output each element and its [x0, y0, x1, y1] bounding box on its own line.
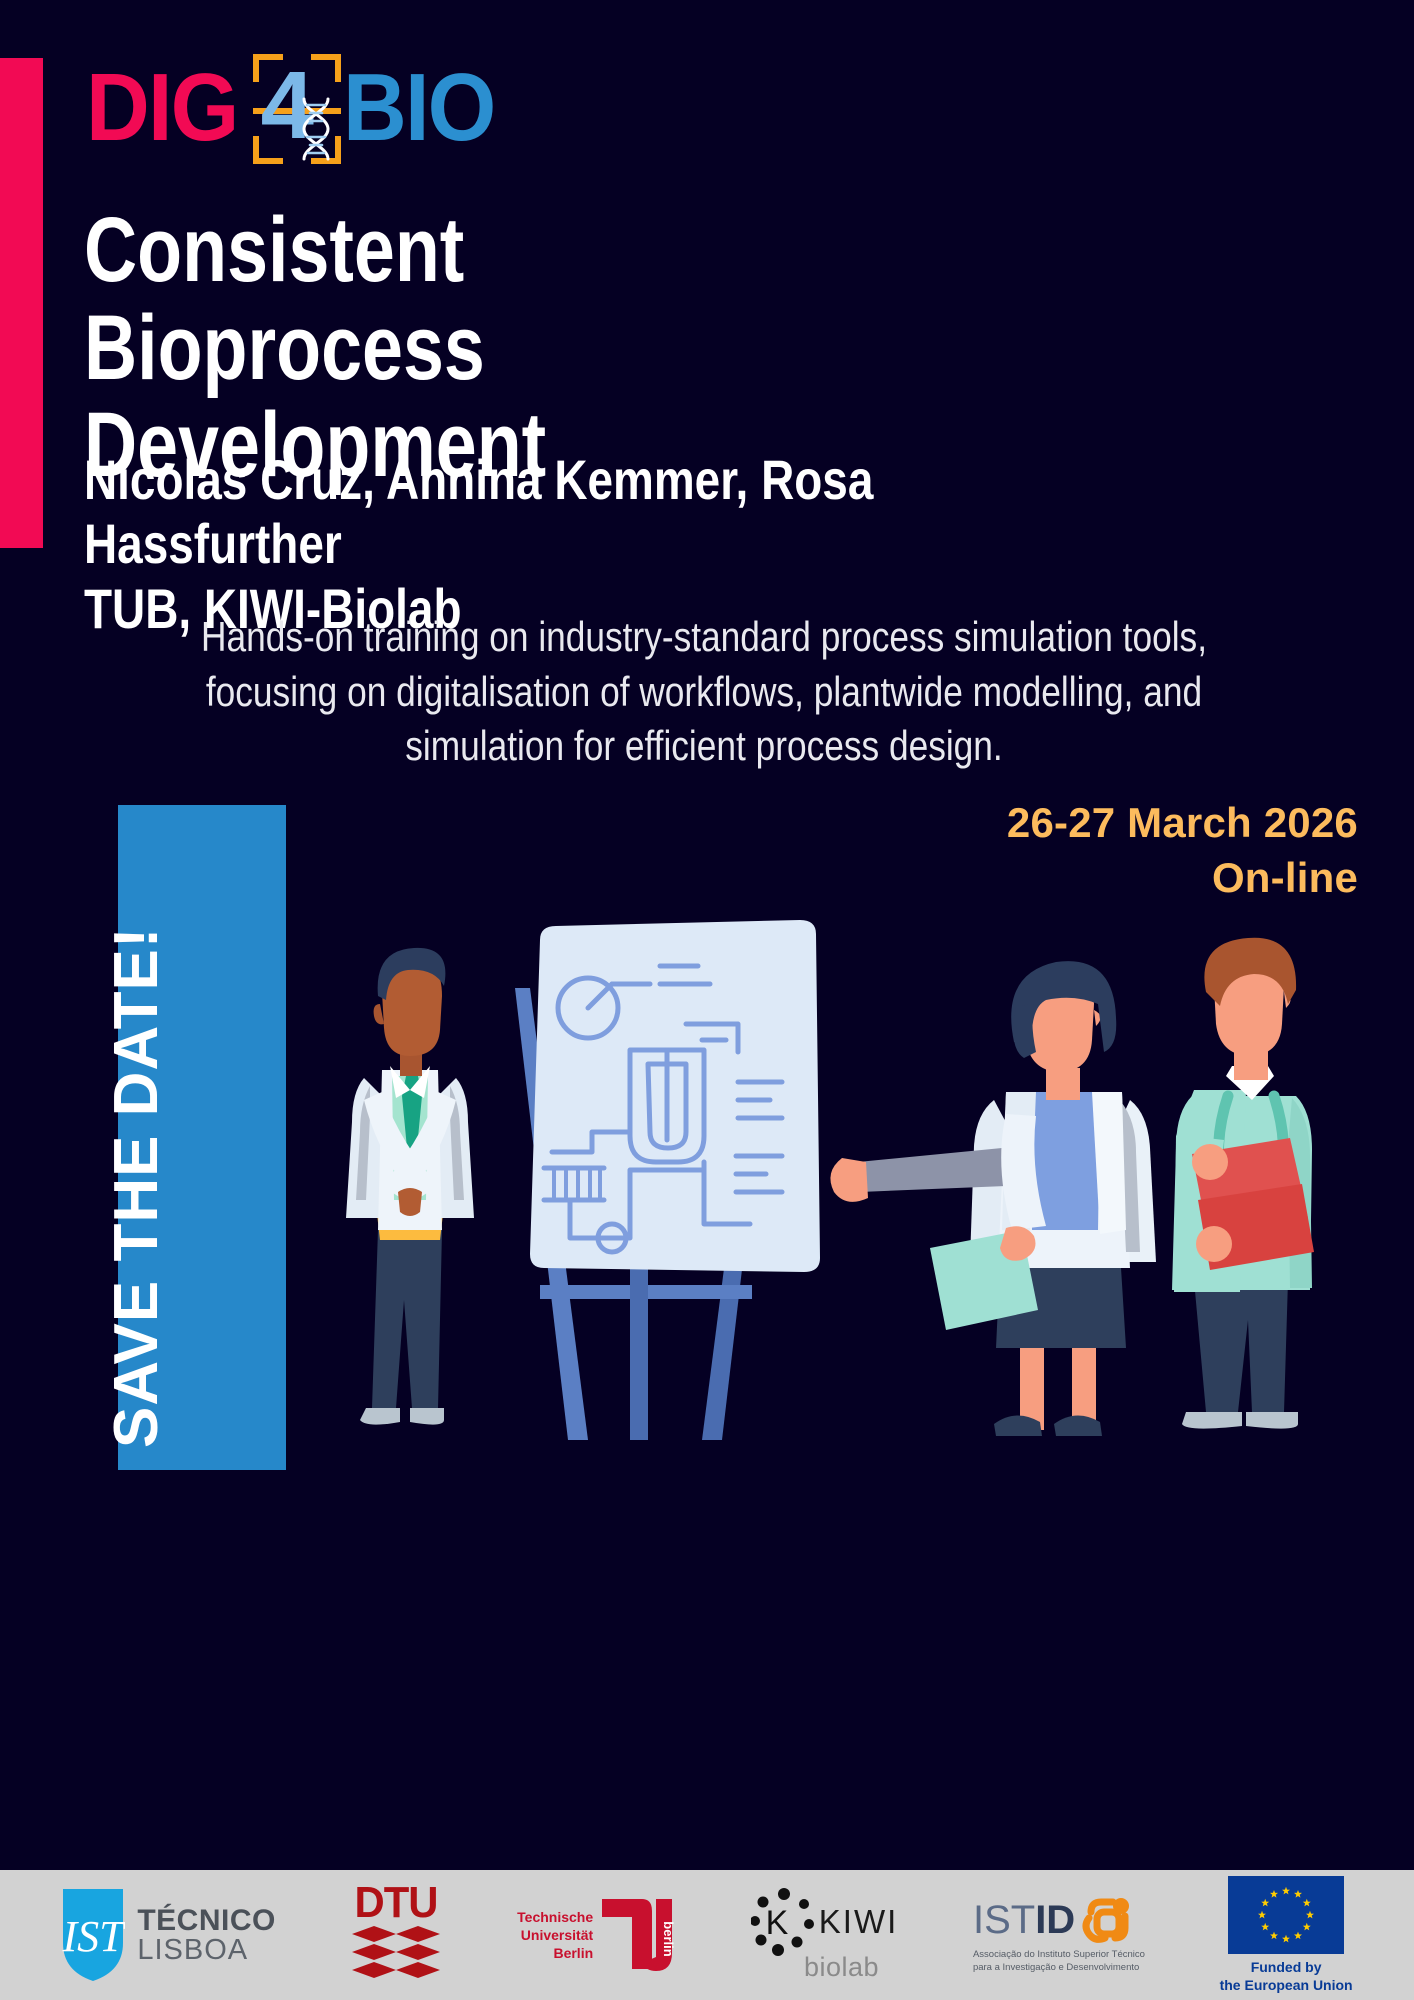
authors-names: Nicolas Cruz, Annina Kemmer, Rosa Hassfu… [84, 448, 1084, 577]
eu-flag-icon [1228, 1876, 1344, 1954]
footer-logo-bar: IST TÉCNICO LISBOA DTU [0, 1870, 1414, 2000]
kiwi-wordmark: KIWI [819, 1903, 899, 1941]
event-mode: On-line [1007, 851, 1358, 906]
dtu-waves-icon [350, 1926, 442, 1982]
logo-funded-by-eu: Funded by the European Union [1220, 1876, 1353, 1994]
istid-sub-line1: Associação do Instituto Superior Técnico [973, 1949, 1145, 1962]
tu-berlin-mark-icon: berlin [598, 1895, 676, 1975]
svg-text:IST: IST [62, 1912, 126, 1961]
save-the-date-banner: SAVE THE DATE! [118, 805, 286, 1470]
person-man-with-folder [1172, 938, 1314, 1429]
eu-funded-line2: the European Union [1220, 1977, 1353, 1995]
accent-bar [0, 58, 43, 548]
event-date: 26-27 March 2026 [1007, 796, 1358, 851]
dig4bio-logo: DIG 4 [86, 52, 507, 164]
tecnico-line1: TÉCNICO [137, 1906, 276, 1936]
istid-id-text: ID [1035, 1898, 1075, 1943]
dna-helix-icon [298, 97, 334, 165]
kiwi-subtitle: biolab [804, 1952, 879, 1983]
logo-dtu: DTU [350, 1883, 442, 1986]
dtu-wordmark: DTU [353, 1883, 440, 1923]
kiwi-dots-icon: K [751, 1888, 817, 1956]
description-text: Hands-on training on industry-standard p… [183, 610, 1225, 774]
save-the-date-text: SAVE THE DATE! [101, 926, 172, 1448]
poster-title-line1: Consistent Bioprocess [84, 202, 852, 397]
tu-berlin-mark-label: berlin [661, 1921, 676, 1956]
person-left-standing [346, 948, 474, 1425]
logo-tu-berlin: Technische Universität Berlin berlin [517, 1895, 676, 1975]
logo-bio-text: BIO [343, 60, 494, 156]
istid-sub-line2: para a Investigação e Desenvolvimento [973, 1962, 1145, 1975]
eu-funded-line1: Funded by [1220, 1959, 1353, 1977]
scientists-flipchart-illustration [330, 900, 1400, 1480]
istid-knot-icon [1081, 1896, 1133, 1946]
istid-ist-text: IST [973, 1898, 1035, 1943]
poster-root: DIG 4 [0, 0, 1414, 2000]
tub-line3: Berlin [517, 1944, 593, 1962]
tecnico-line2: LISBOA [137, 1936, 276, 1965]
person-woman-pointing [830, 961, 1156, 1436]
logo-ist-id: IST ID Associação do Instituto Superior … [973, 1896, 1145, 1975]
tub-line2: Universität [517, 1926, 593, 1944]
tecnico-shield-icon: IST [61, 1887, 125, 1983]
tub-line1: Technische [517, 1908, 593, 1926]
svg-text:K: K [765, 1904, 788, 1942]
logo-four-block: 4 [253, 52, 349, 164]
flipchart-board [530, 920, 820, 1272]
logo-dig-text: DIG [86, 60, 237, 156]
logo-tecnico-lisboa: IST TÉCNICO LISBOA [61, 1887, 276, 1983]
event-details: 26-27 March 2026 On-line [1007, 796, 1358, 905]
logo-kiwi-biolab: K KIWI biolab [751, 1888, 899, 1983]
